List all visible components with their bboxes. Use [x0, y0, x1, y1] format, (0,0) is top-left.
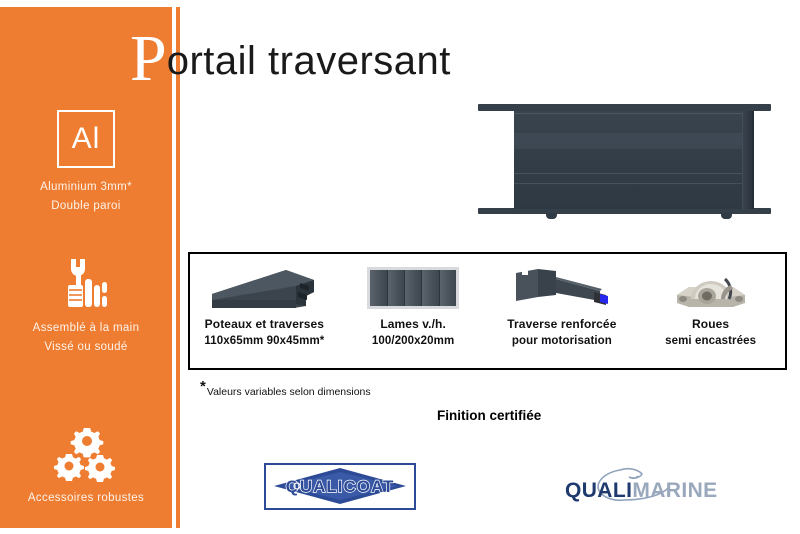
slat — [440, 270, 456, 306]
gate-panel-seam — [514, 173, 752, 174]
sidebar-item-assemblage-line1: Assemblé à la main — [0, 319, 172, 338]
feature-sub-poteaux: 110x65mm 90x45mm* — [204, 333, 324, 350]
slide-canvas: Al Aluminium 3mm* Double paroi Assemblé … — [0, 0, 800, 534]
page-title-initial: P — [130, 22, 167, 95]
sidebar-item-accessoires-line1: Accessoires robustes — [0, 489, 172, 508]
reinforced-crossbar-icon — [508, 265, 616, 311]
slat — [388, 270, 405, 306]
feature-sub-traverse: pour motorisation — [512, 333, 612, 350]
wheel-bearing-icon — [673, 265, 749, 311]
feature-caption-lames: Lames v./h. — [380, 316, 446, 333]
feature-item-lames: Lames v./h. 100/200x20mm — [339, 254, 488, 368]
feature-caption-poteaux: Poteaux et traverses — [205, 316, 324, 333]
qualicoat-logo-text: QUALICOAT — [286, 477, 395, 496]
sidebar-item-accessoires: Accessoires robustes — [0, 425, 172, 508]
gate-panel-seam — [514, 183, 752, 184]
qualimarine-logo-text: QUALIMARINE — [565, 480, 718, 501]
aluminium-square-icon: Al — [57, 110, 115, 168]
hand-wrench-icon — [54, 255, 118, 319]
feature-art — [367, 260, 459, 316]
footnote: *Valeurs variables selon dimensions — [200, 378, 371, 398]
qualimarine-logo: QUALIMARINE — [562, 464, 710, 508]
qualicoat-logo: QUALICOAT — [264, 463, 416, 510]
qualicoat-logo-art: QUALICOAT — [266, 465, 414, 508]
page-title-rest: ortail traversant — [167, 39, 451, 83]
feature-item-roues: Roues semi encastrées — [636, 254, 785, 368]
slat — [405, 270, 422, 306]
sidebar-item-assemblage: Assemblé à la main Vissé ou soudé — [0, 255, 172, 357]
gate-panel-band — [514, 133, 752, 149]
post-profile-icon — [210, 266, 318, 310]
qualimarine-text-secondary: MARINE — [632, 479, 717, 502]
sidebar-item-aluminium-line1: Aluminium 3mm* — [0, 178, 172, 197]
features-box: Poteaux et traverses 110x65mm 90x45mm* L… — [188, 252, 787, 370]
aluminium-badge-label: Al — [72, 124, 101, 154]
feature-sub-lames: 100/200x20mm — [372, 333, 454, 350]
gate-panel — [514, 111, 754, 209]
gate-end-post — [742, 111, 752, 209]
gate-top-rail — [478, 104, 771, 111]
feature-item-poteaux: Poteaux et traverses 110x65mm 90x45mm* — [190, 254, 339, 368]
gate-panel-seam — [514, 113, 752, 114]
gate-roller-right — [721, 213, 732, 219]
certification-heading: Finition certifiée — [437, 408, 541, 423]
footnote-asterisk: * — [200, 378, 206, 395]
qualimarine-text-primary: QUALI — [565, 479, 632, 502]
slats-panel-icon — [367, 267, 459, 309]
feature-caption-roues: Roues — [692, 316, 729, 333]
feature-art — [508, 260, 616, 316]
footnote-text: Valeurs variables selon dimensions — [207, 386, 371, 398]
slat — [370, 270, 387, 306]
feature-item-traverse: Traverse renforcée pour motorisation — [488, 254, 637, 368]
feature-art — [673, 260, 749, 316]
feature-sub-roues: semi encastrées — [665, 333, 756, 350]
slat — [422, 270, 439, 306]
feature-art — [210, 260, 318, 316]
gate-roller-left — [546, 213, 557, 219]
sliding-gate-illustration — [478, 104, 771, 219]
page-title: Portail traversant — [130, 26, 451, 86]
sidebar-item-assemblage-line2: Vissé ou soudé — [0, 338, 172, 357]
sidebar-item-aluminium: Al Aluminium 3mm* Double paroi — [0, 110, 172, 216]
feature-caption-traverse: Traverse renforcée — [507, 316, 616, 333]
sidebar-item-aluminium-line2: Double paroi — [0, 197, 172, 216]
gears-icon — [51, 425, 121, 489]
